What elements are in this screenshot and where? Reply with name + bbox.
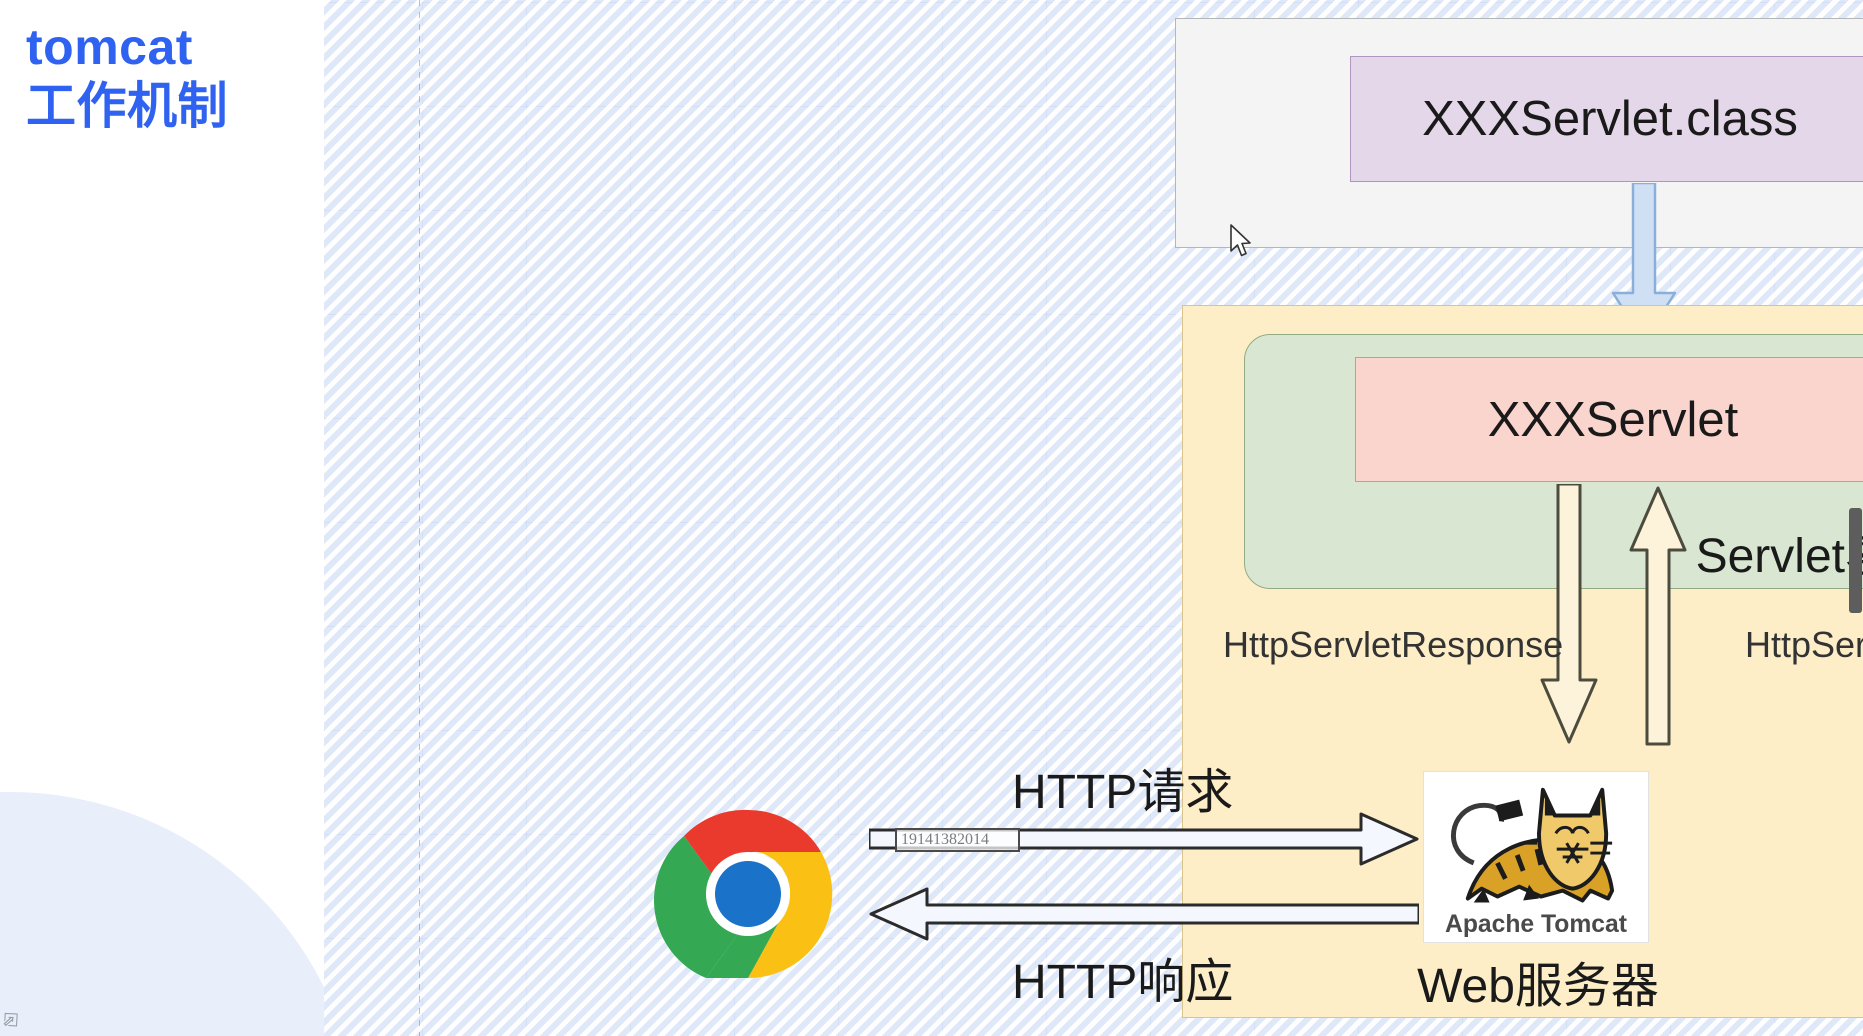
watermark-textbox[interactable]: 19141382014 [895, 828, 1020, 852]
scrollbar-thumb[interactable] [1849, 508, 1862, 613]
apache-tomcat-logo: Apache Tomcat [1423, 771, 1649, 943]
disk-panel: XXXServlet.class [1175, 18, 1863, 248]
http-servlet-response-label: HttpServletResponse [1223, 624, 1563, 666]
class-file-box: XXXServlet.class [1350, 56, 1863, 182]
tomcat-cat-icon: Apache Tomcat [1424, 772, 1648, 942]
chrome-logo-icon [654, 800, 842, 988]
http-servlet-response-arrow-icon [1538, 484, 1600, 746]
vertical-scrollbar[interactable] [1847, 0, 1863, 1036]
http-servlet-request-arrow-icon [1627, 484, 1689, 746]
servlet-instance-label: XXXServlet [1488, 392, 1739, 448]
servlet-instance-box: XXXServlet [1355, 357, 1863, 482]
http-response-arrow-icon [869, 885, 1419, 943]
slide-viewer: ⎆ tomcat 工作机制 XXXServlet.class [0, 0, 1863, 1036]
diagram-canvas: XXXServlet.class XXXServlet Servlet容器 [324, 0, 1863, 1036]
page-title: tomcat 工作机制 [26, 18, 228, 136]
mouse-pointer-icon [1229, 224, 1255, 260]
left-title-panel: ⎆ tomcat 工作机制 [0, 0, 324, 1036]
title-line-2: 工作机制 [26, 77, 228, 136]
class-file-label: XXXServlet.class [1422, 91, 1798, 147]
http-response-label: HTTP响应 [1012, 942, 1233, 1012]
title-line-1: tomcat [26, 18, 228, 77]
decorative-arc [0, 792, 324, 1036]
servlet-container-label: Servlet容器 [1696, 516, 1863, 586]
http-servlet-request-label: HttpServletRequest [1745, 624, 1863, 666]
http-request-label: HTTP请求 [1012, 752, 1233, 822]
web-server-label: Web服务器 [1368, 946, 1708, 1016]
tomcat-logo-text: Apache Tomcat [1445, 911, 1627, 938]
